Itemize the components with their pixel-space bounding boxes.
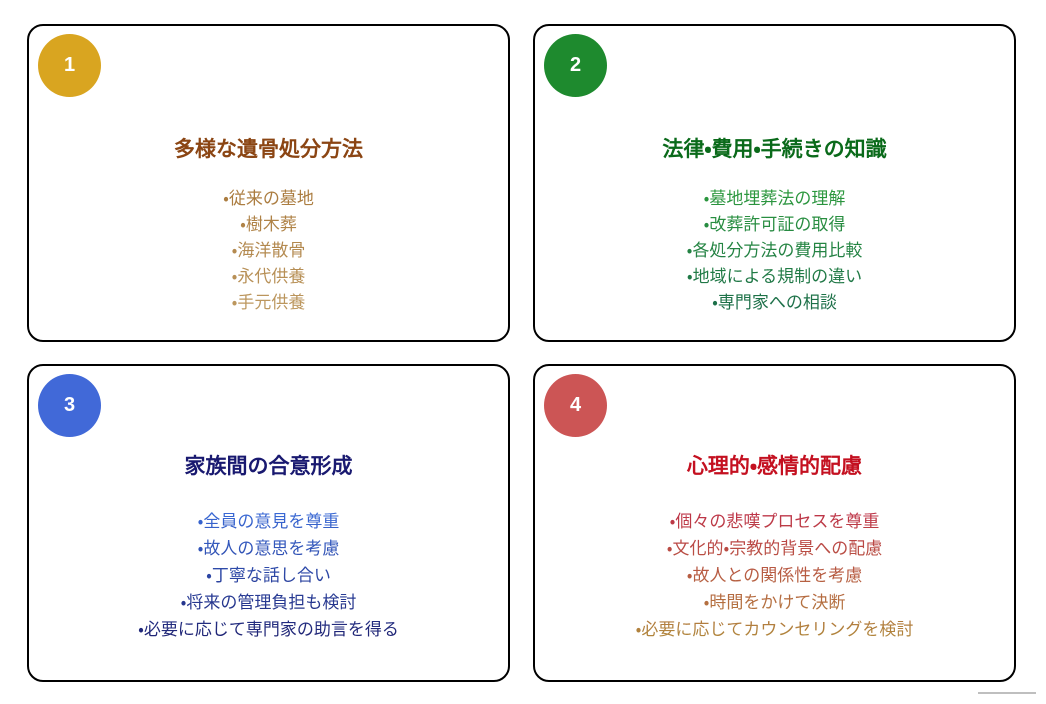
list-item: ・必要に応じてカウンセリングを検討 <box>553 616 996 643</box>
list-item: ・各処分方法の費用比較 <box>553 238 996 264</box>
card-content-3: 家族間の合意形成 ・全員の意見を尊重 ・故人の意思を考慮 ・丁寧な話し合い ・将… <box>29 366 508 680</box>
list-item: ・将来の管理負担も検討 <box>47 589 490 616</box>
slide-canvas: 1 多様な遺骨処分方法 ・従来の墓地 ・樹木葬 ・海洋散骨 ・永代供養 ・手元供… <box>0 0 1046 704</box>
list-item: ・従来の墓地 <box>47 186 490 212</box>
card-number-label: 2 <box>570 54 581 77</box>
list-item: ・時間をかけて決断 <box>553 589 996 616</box>
card-content-2: 法律・費用・手続きの知識 ・墓地埋葬法の理解 ・改葬許可証の取得 ・各処分方法の… <box>535 26 1014 340</box>
list-item: ・専門家への相談 <box>553 290 996 316</box>
card-title-2: 法律・費用・手続きの知識 <box>662 137 886 162</box>
card-number-badge-3: 3 <box>38 374 101 437</box>
card-title-3: 家族間の合意形成 <box>185 454 353 479</box>
list-item: ・故人の意思を考慮 <box>47 535 490 562</box>
list-item: ・手元供養 <box>47 290 490 316</box>
card-2[interactable]: 2 法律・費用・手続きの知識 ・墓地埋葬法の理解 ・改葬許可証の取得 ・各処分方… <box>533 24 1016 342</box>
list-item: ・必要に応じて専門家の助言を得る <box>47 616 490 643</box>
list-item: ・地域による規制の違い <box>553 264 996 290</box>
card-title-1: 多様な遺骨処分方法 <box>174 137 363 162</box>
list-item: ・丁寧な話し合い <box>47 562 490 589</box>
card-1[interactable]: 1 多様な遺骨処分方法 ・従来の墓地 ・樹木葬 ・海洋散骨 ・永代供養 ・手元供… <box>27 24 510 342</box>
card-number-badge-4: 4 <box>544 374 607 437</box>
list-item: ・墓地埋葬法の理解 <box>553 186 996 212</box>
list-item: ・故人との関係性を考慮 <box>553 562 996 589</box>
card-bullet-list-1: ・従来の墓地 ・樹木葬 ・海洋散骨 ・永代供養 ・手元供養 <box>47 186 490 316</box>
list-item: ・個々の悲嘆プロセスを尊重 <box>553 508 996 535</box>
list-item: ・全員の意見を尊重 <box>47 508 490 535</box>
card-4[interactable]: 4 心理的・感情的配慮 ・個々の悲嘆プロセスを尊重 ・文化的・宗教的背景への配慮… <box>533 364 1016 682</box>
card-bullet-list-2: ・墓地埋葬法の理解 ・改葬許可証の取得 ・各処分方法の費用比較 ・地域による規制… <box>553 186 996 316</box>
card-bullet-list-3: ・全員の意見を尊重 ・故人の意思を考慮 ・丁寧な話し合い ・将来の管理負担も検討… <box>47 508 490 643</box>
card-number-label: 1 <box>64 54 75 77</box>
list-item: ・樹木葬 <box>47 212 490 238</box>
list-item: ・文化的・宗教的背景への配慮 <box>553 535 996 562</box>
card-number-label: 3 <box>64 394 75 417</box>
card-number-badge-1: 1 <box>38 34 101 97</box>
card-content-4: 心理的・感情的配慮 ・個々の悲嘆プロセスを尊重 ・文化的・宗教的背景への配慮 ・… <box>535 366 1014 680</box>
list-item: ・永代供養 <box>47 264 490 290</box>
card-content-1: 多様な遺骨処分方法 ・従来の墓地 ・樹木葬 ・海洋散骨 ・永代供養 ・手元供養 <box>29 26 508 340</box>
card-number-badge-2: 2 <box>544 34 607 97</box>
list-item: ・改葬許可証の取得 <box>553 212 996 238</box>
corner-divider-rule <box>978 692 1036 694</box>
card-title-4: 心理的・感情的配慮 <box>687 454 862 479</box>
list-item: ・海洋散骨 <box>47 238 490 264</box>
card-bullet-list-4: ・個々の悲嘆プロセスを尊重 ・文化的・宗教的背景への配慮 ・故人との関係性を考慮… <box>553 508 996 643</box>
card-3[interactable]: 3 家族間の合意形成 ・全員の意見を尊重 ・故人の意思を考慮 ・丁寧な話し合い … <box>27 364 510 682</box>
card-number-label: 4 <box>570 394 581 417</box>
